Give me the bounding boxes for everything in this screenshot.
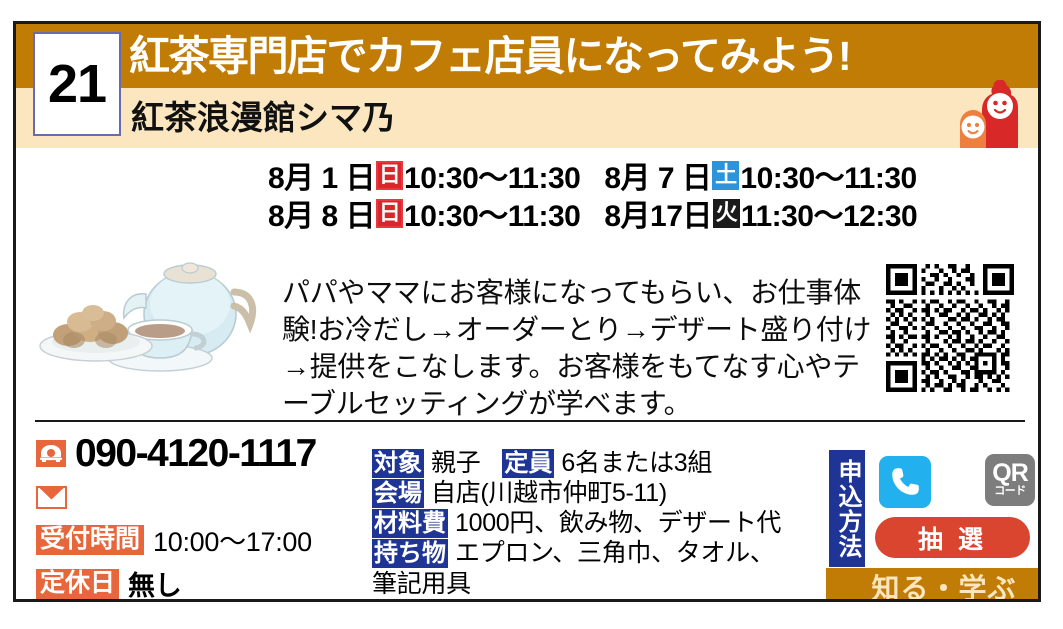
closed-days-label: 定休日: [36, 569, 119, 599]
reception-hours-value: 10:00〜17:00: [153, 520, 312, 559]
contact-block: 090-4120-1117 受付時間 10:00〜17:00 定休日 無し: [36, 429, 366, 602]
venue-label: 会場: [372, 479, 424, 508]
reception-hours-label: 受付時間: [36, 525, 144, 555]
weekday-badge-sunday: 日: [376, 161, 403, 190]
reception-hours-row: 受付時間 10:00〜17:00: [36, 519, 366, 560]
fee-row: 材料費 1000円、飲み物、デザート代: [372, 509, 822, 538]
teapot-and-teacup-illustration: [38, 242, 276, 382]
date-row: 8月 8 日 日 10:30〜11:30 8月17日 火 11:30〜12:30: [268, 194, 1028, 232]
telephone-icon: [36, 440, 66, 467]
event-card: 21 紅茶専門店でカフェ店員になってみよう! 紅茶浪漫館シマ乃 8月 1 日 日…: [13, 21, 1041, 602]
qr-code-image[interactable]: [886, 261, 1014, 395]
email-row: [36, 477, 366, 517]
section-divider: [35, 420, 1025, 422]
badges-block: 申込方法 QR コード 抽 選 知る・学ぶ: [821, 444, 1041, 602]
bring-row: 持ち物 エプロン、三角巾、タオル、: [372, 539, 822, 568]
capacity-label: 定員: [502, 449, 554, 478]
phone-handset-icon: [888, 465, 922, 499]
bring-value: エプロン、三角巾、タオル、: [455, 539, 775, 568]
category-badge: 知る・学ぶ: [826, 568, 1041, 602]
venue-row: 会場 自店(川越市仲町5-11): [372, 479, 822, 508]
weekday-badge-tuesday: 火: [713, 199, 740, 228]
event-description: パパやママにお客様になってもらい、お仕事体験!お冷だし→オーダーとり→デザート盛…: [282, 274, 882, 422]
telephone-number: 090-4120-1117: [75, 434, 316, 473]
target-value: 親子: [431, 449, 480, 478]
envelope-icon: [36, 486, 67, 509]
telephone-row: 090-4120-1117: [36, 429, 366, 477]
fee-value: 1000円、飲み物、デザート代: [455, 509, 781, 538]
venue-value: 自店(川越市仲町5-11): [431, 479, 667, 508]
event-title: 紅茶専門店でカフェ店員になってみよう!: [129, 33, 850, 80]
event-number: 21: [48, 57, 106, 111]
date-time: 10:30〜11:30: [404, 191, 580, 235]
details-block: 対象 親子 定員 6名または3組 会場 自店(川越市仲町5-11) 材料費 10…: [372, 449, 822, 600]
date-month-day: 8月17日: [604, 191, 712, 235]
fee-label: 材料費: [372, 509, 448, 538]
qr-badge-subtext: コード: [994, 485, 1026, 498]
target-and-capacity-row: 対象 親子 定員 6名または3組: [372, 449, 822, 478]
qr-badge-text: QR: [992, 462, 1028, 485]
lottery-badge: 抽 選: [875, 517, 1030, 558]
weekday-badge-saturday: 土: [712, 161, 739, 190]
weekday-badge-sunday: 日: [376, 199, 403, 228]
event-dates: 8月 1 日 日 10:30〜11:30 8月 7 日 土 10:30〜11:3…: [268, 156, 1028, 232]
target-label: 対象: [372, 449, 424, 478]
bring-value-continued: 筆記用具: [372, 569, 822, 600]
event-number-box: 21: [33, 32, 121, 136]
date-entry: 8月17日 火 11:30〜12:30: [604, 191, 917, 235]
parent-and-child-icon: [956, 80, 1022, 148]
date-time: 11:30〜12:30: [741, 191, 917, 235]
event-organizer: 紅茶浪漫館シマ乃: [131, 96, 395, 140]
closed-days-row: 定休日 無し: [36, 563, 366, 602]
apply-method-label: 申込方法: [829, 450, 865, 567]
date-month-day: 8月 8 日: [268, 191, 375, 235]
bring-label: 持ち物: [372, 539, 448, 568]
date-entry: 8月 8 日 日 10:30〜11:30: [268, 191, 580, 235]
qr-code-badge[interactable]: QR コード: [985, 454, 1035, 506]
closed-days-value: 無し: [128, 564, 181, 602]
phone-application-badge[interactable]: [879, 456, 931, 508]
date-row: 8月 1 日 日 10:30〜11:30 8月 7 日 土 10:30〜11:3…: [268, 156, 1028, 194]
capacity-value: 6名または3組: [561, 449, 712, 478]
